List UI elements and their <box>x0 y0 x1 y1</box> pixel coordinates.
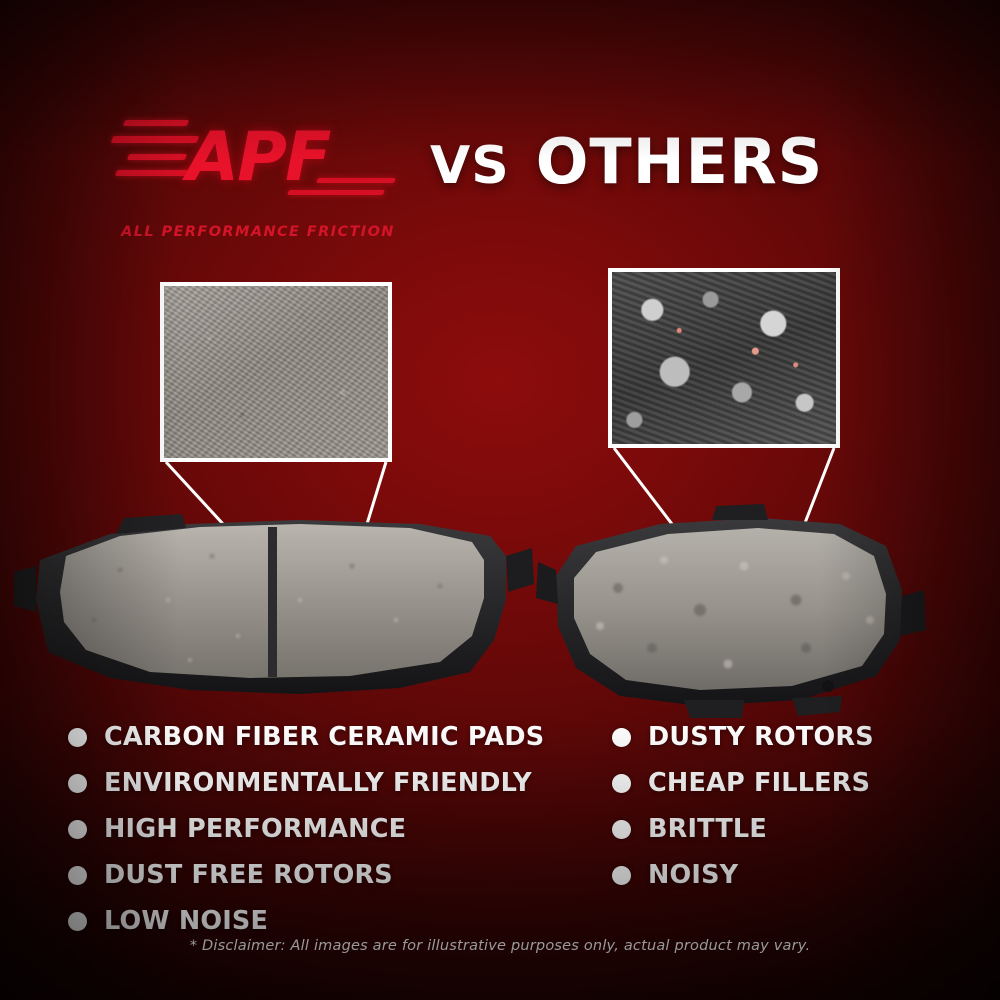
disclaimer-text: * Disclaimer: All images are for illustr… <box>0 938 1000 954</box>
feature-label: CARBON FIBER CERAMIC PADS <box>104 722 544 752</box>
others-pad-surface-swatch <box>608 268 840 448</box>
brand-tagline: ALL PERFORMANCE FRICTION <box>112 224 404 240</box>
feature-label: LOW NOISE <box>104 906 268 936</box>
bullet-icon <box>612 866 631 885</box>
apf-brake-pad <box>14 514 534 694</box>
list-item: BRITTLE <box>612 814 982 844</box>
header: APF ALL PERFORMANCE FRICTION VSOTHERS <box>0 96 1000 246</box>
bullet-icon <box>612 820 631 839</box>
bullet-icon <box>68 866 87 885</box>
feature-label: ENVIRONMENTALLY FRIENDLY <box>104 768 532 798</box>
bullet-icon <box>612 728 631 747</box>
apf-logo-mark: APF <box>112 104 404 200</box>
list-item: DUST FREE ROTORS <box>68 860 568 890</box>
comparison-infographic: APF ALL PERFORMANCE FRICTION VSOTHERS <box>0 0 1000 1000</box>
list-item: ENVIRONMENTALLY FRIENDLY <box>68 768 568 798</box>
vs-label: VS <box>430 136 510 196</box>
feature-label: DUST FREE ROTORS <box>104 860 393 890</box>
brand-wordmark: APF <box>112 110 404 206</box>
bullet-icon <box>68 912 87 931</box>
list-item: HIGH PERFORMANCE <box>68 814 568 844</box>
apf-feature-list: CARBON FIBER CERAMIC PADS ENVIRONMENTALL… <box>68 722 568 952</box>
apf-logo: APF ALL PERFORMANCE FRICTION <box>112 104 404 240</box>
feature-label: NOISY <box>648 860 738 890</box>
feature-label: HIGH PERFORMANCE <box>104 814 406 844</box>
bullet-icon <box>68 728 87 747</box>
list-item: CHEAP FILLERS <box>612 768 982 798</box>
others-feature-list: DUSTY ROTORS CHEAP FILLERS BRITTLE NOISY <box>612 722 982 906</box>
others-brake-pad <box>536 504 926 718</box>
others-label: OTHERS <box>536 125 824 198</box>
apf-pad-surface-swatch <box>160 282 392 462</box>
page-title: VSOTHERS <box>430 114 970 214</box>
feature-label: DUSTY ROTORS <box>648 722 874 752</box>
feature-label: CHEAP FILLERS <box>648 768 870 798</box>
bullet-icon <box>68 820 87 839</box>
list-item: LOW NOISE <box>68 906 568 936</box>
feature-label: BRITTLE <box>648 814 767 844</box>
list-item: NOISY <box>612 860 982 890</box>
list-item: CARBON FIBER CERAMIC PADS <box>68 722 568 752</box>
bullet-icon <box>68 774 87 793</box>
bullet-icon <box>612 774 631 793</box>
list-item: DUSTY ROTORS <box>612 722 982 752</box>
